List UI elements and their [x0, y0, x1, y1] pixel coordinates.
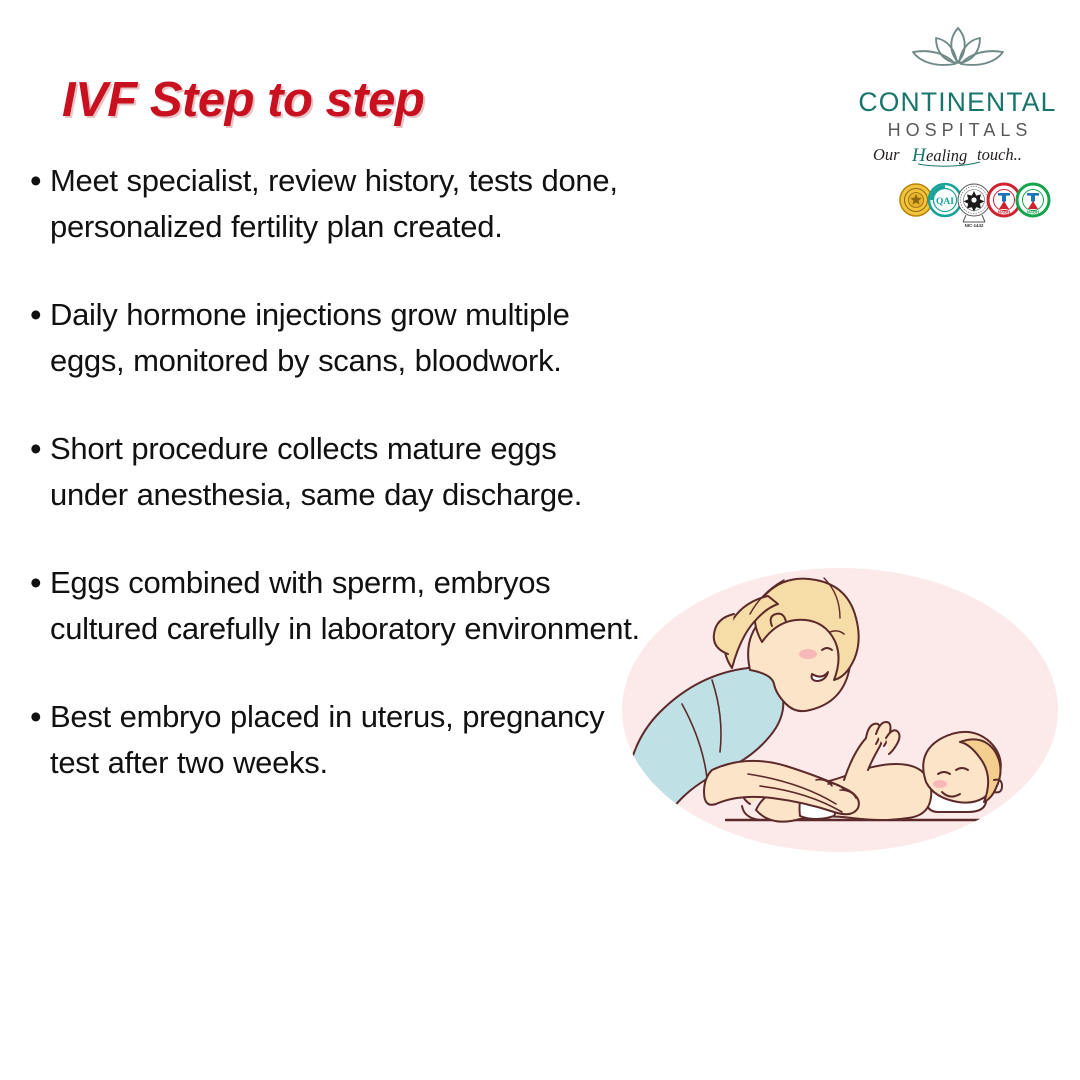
brand-name: CONTINENTAL — [855, 89, 1060, 117]
steps-list: • Meet specialist, review history, tests… — [22, 158, 642, 786]
list-item-text: Eggs combined with sperm, embryos cultur… — [50, 560, 642, 652]
accreditation-badges: QAI NIC-1442 NABH — [898, 182, 1050, 232]
brand-subtitle: HOSPITALS — [855, 120, 1060, 141]
svg-text:NIC-1442: NIC-1442 — [965, 223, 984, 228]
list-item-text: Meet specialist, review history, tests d… — [50, 158, 642, 250]
bullet-icon: • — [22, 292, 50, 338]
svg-text:H: H — [911, 145, 927, 166]
mother-with-baby-illustration — [608, 552, 1072, 872]
svg-text:Our: Our — [873, 145, 900, 164]
brand-logo: CONTINENTAL HOSPITALS Our H ealing touch… — [855, 22, 1060, 169]
poster-canvas: IVF Step to step CONTINENTAL HOSPITALS O… — [0, 0, 1080, 1080]
list-item: • Daily hormone injections grow multiple… — [22, 292, 642, 384]
page-title: IVF Step to step — [62, 72, 424, 128]
svg-text:NABH: NABH — [1027, 210, 1039, 215]
list-item: • Eggs combined with sperm, embryos cult… — [22, 560, 642, 652]
bullet-icon: • — [22, 158, 50, 204]
svg-text:QAI: QAI — [936, 197, 954, 207]
list-item: • Meet specialist, review history, tests… — [22, 158, 642, 250]
lotus-icon — [855, 22, 1060, 87]
svg-text:NABH: NABH — [998, 210, 1010, 215]
nabh-green-badge: NABH — [1015, 182, 1051, 218]
list-item-text: Best embryo placed in uterus, pregnancy … — [50, 694, 642, 786]
list-item-text: Daily hormone injections grow multiple e… — [50, 292, 642, 384]
brand-tagline: Our H ealing touch.. — [855, 143, 1060, 169]
svg-text:ealing: ealing — [926, 146, 967, 165]
list-item: • Short procedure collects mature eggs u… — [22, 426, 642, 518]
bullet-icon: • — [22, 560, 50, 606]
svg-text:touch..: touch.. — [977, 145, 1022, 164]
list-item-text: Short procedure collects mature eggs und… — [50, 426, 642, 518]
list-item: • Best embryo placed in uterus, pregnanc… — [22, 694, 642, 786]
bullet-icon: • — [22, 426, 50, 472]
bullet-icon: • — [22, 694, 50, 740]
